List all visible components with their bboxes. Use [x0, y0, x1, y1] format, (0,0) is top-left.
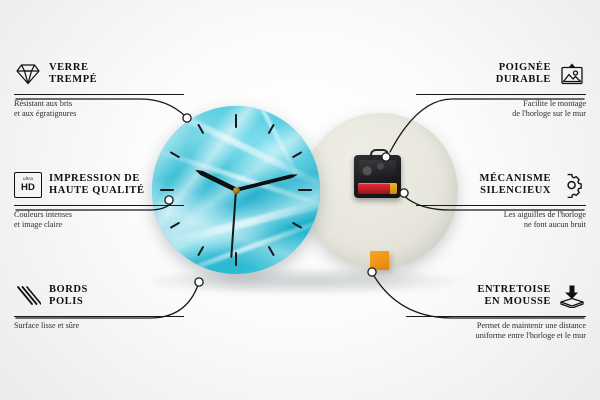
feature-bords-polis[interactable]: BORDS POLIS Surface lisse et sûre	[14, 279, 184, 331]
feature-title: MÉCANISME SILENCIEUX	[480, 173, 551, 198]
ultra-hd-badge-icon: ultra HD	[14, 171, 42, 199]
clock-tick-3	[236, 189, 312, 191]
feature-title: BORDS POLIS	[49, 284, 88, 309]
feature-divider	[14, 205, 184, 206]
feature-description: Facilite le montage de l'horloge sur le …	[416, 99, 586, 120]
feature-divider	[406, 316, 586, 317]
feature-description: Surface lisse et sûre	[14, 321, 184, 331]
feature-impression-haute-qualite[interactable]: ultra HD IMPRESSION DE HAUTE QUALITÉ Cou…	[14, 168, 184, 231]
feature-header: POIGNÉE DURABLE	[416, 57, 586, 91]
feature-description: Résistant aux bris et aux égratignures	[14, 99, 184, 120]
feature-description: Couleurs intenses et image claire	[14, 210, 184, 231]
feature-title: ENTRETOISE EN MOUSSE	[477, 284, 551, 309]
foam-spacer-pad	[370, 251, 389, 270]
diamond-icon	[14, 60, 42, 88]
clock-center-cap	[233, 187, 240, 194]
hd-badge-big-text: HD	[21, 183, 35, 193]
feature-header: BORDS POLIS	[14, 279, 184, 313]
feature-divider	[416, 94, 586, 95]
feature-header: ultra HD IMPRESSION DE HAUTE QUALITÉ	[14, 168, 184, 202]
foam-spacer-icon	[558, 282, 586, 310]
feature-title: VERRE TREMPÉ	[49, 62, 97, 87]
mechanism-hanger-loop-icon	[370, 149, 389, 160]
feature-divider	[14, 94, 184, 95]
feature-title: IMPRESSION DE HAUTE QUALITÉ	[49, 173, 145, 198]
feature-description: Les aiguilles de l'horloge ne font aucun…	[416, 210, 586, 231]
infographic-canvas: VERRE TREMPÉ Résistant aux bris et aux é…	[0, 0, 600, 400]
mechanism-detail	[359, 160, 396, 178]
feature-verre-trempe[interactable]: VERRE TREMPÉ Résistant aux bris et aux é…	[14, 57, 184, 120]
feature-header: ENTRETOISE EN MOUSSE	[406, 279, 586, 313]
feature-poignee-durable[interactable]: POIGNÉE DURABLE Facilite le montage de l…	[416, 57, 586, 120]
picture-hanger-icon	[558, 60, 586, 88]
feature-title: POIGNÉE DURABLE	[496, 62, 551, 87]
feature-mecanisme-silencieux[interactable]: MÉCANISME SILENCIEUX Les aiguilles de l'…	[416, 168, 586, 231]
clock-tick-12	[235, 114, 237, 190]
feature-header: VERRE TREMPÉ	[14, 57, 184, 91]
feature-header: MÉCANISME SILENCIEUX	[416, 168, 586, 202]
feature-divider	[416, 205, 586, 206]
feature-description: Permet de maintenir une distance uniform…	[406, 321, 586, 342]
feature-entretoise-en-mousse[interactable]: ENTRETOISE EN MOUSSE Permet de maintenir…	[406, 279, 586, 342]
polished-edges-icon	[14, 282, 42, 310]
gear-icon	[558, 171, 586, 199]
feature-divider	[14, 316, 184, 317]
battery-icon	[358, 183, 397, 194]
clock-mechanism-icon	[354, 155, 401, 198]
